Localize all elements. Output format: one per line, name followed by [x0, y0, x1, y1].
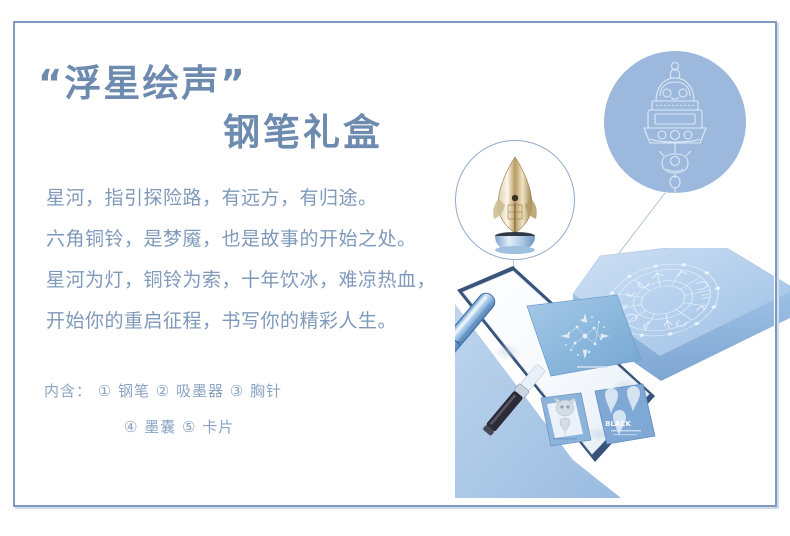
- fountain-pen-nib-icon: [456, 141, 574, 259]
- bell-emblem-circle: [604, 51, 746, 193]
- bronze-bell-icon: [604, 51, 746, 193]
- title-line-1: “浮星绘声”: [38, 62, 458, 106]
- photo-corner-mask: [700, 440, 790, 536]
- poem-copy: 星河，指引探险路，有远方，有归途。 六角铜铃，是梦魇，也是故事的开始之处。 星河…: [46, 182, 466, 346]
- nib-callout-circle: [455, 140, 575, 260]
- cartridge-brand-text: BLACK: [605, 420, 631, 428]
- copy-line-1: 星河，指引探险路，有远方，有归途。: [46, 182, 466, 215]
- copy-line-4: 开始你的重启征程，书写你的精彩人生。: [46, 305, 466, 338]
- product-poster: “浮星绘声” 钢笔礼盒 星河，指引探险路，有远方，有归途。 六角铜铃，是梦魇，也…: [0, 0, 790, 536]
- title-line-2: 钢笔礼盒: [38, 111, 458, 155]
- copy-line-3: 星河为灯，铜铃为索，十年饮冰，难凉热血，: [46, 264, 466, 297]
- contents-list: 内含： ① 钢笔 ② 吸墨器 ③ 胸针 ④ 墨囊 ⑤ 卡片: [44, 378, 384, 440]
- contents-row-2: ④ 墨囊 ⑤ 卡片: [44, 414, 384, 440]
- copy-line-2: 六角铜铃，是梦魇，也是故事的开始之处。: [46, 223, 466, 256]
- contents-row-1: 内含： ① 钢笔 ② 吸墨器 ③ 胸针: [44, 378, 384, 404]
- page-title: “浮星绘声” 钢笔礼盒: [38, 62, 458, 155]
